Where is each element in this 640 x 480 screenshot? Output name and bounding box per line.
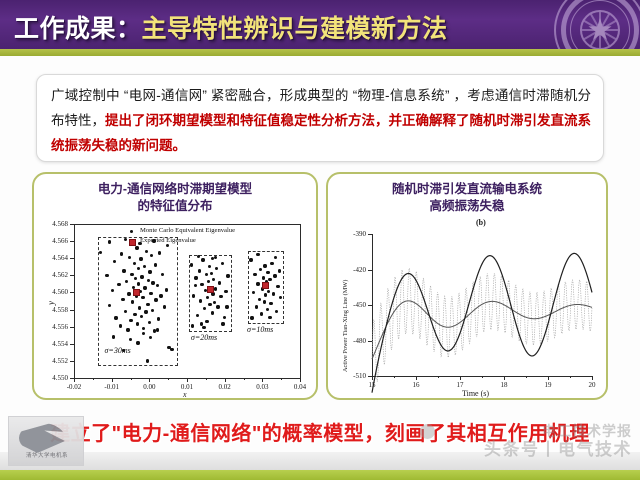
scatter-point bbox=[135, 246, 138, 249]
watermark-badge-icon bbox=[420, 424, 435, 439]
scatter-point bbox=[114, 316, 117, 319]
panel-left-title-line2: 的特征值分布 bbox=[34, 198, 316, 215]
scatter-point bbox=[137, 282, 140, 285]
scatter-point bbox=[154, 298, 157, 301]
slide-root: 工作成果：主导特性辨识与建模新方法 广域控制中 “电网-通信网” 紧密融合，形成… bbox=[0, 0, 640, 480]
panel-right-title: 随机时滞引发直流输电系统 高频振荡失稳 bbox=[328, 174, 606, 215]
scatter-point bbox=[146, 359, 149, 362]
summary-line-1: 广域控制中 “电网-通信网” 紧密融合，形成典型的 “物理-信息系统” ，考 bbox=[51, 88, 481, 103]
x-tick bbox=[300, 378, 301, 382]
dc-power-oscillation-chart: -510-480-450-420-390151617181920Time (s)… bbox=[334, 218, 600, 400]
scatter-point bbox=[139, 257, 142, 260]
scatter-point bbox=[105, 274, 108, 277]
y-tick-label: 4.556 bbox=[40, 323, 68, 331]
scatter-point bbox=[256, 282, 259, 285]
scatter-point bbox=[99, 251, 102, 254]
scatter-point bbox=[112, 335, 115, 338]
scatter-point bbox=[218, 281, 221, 284]
scatter-point bbox=[262, 276, 265, 279]
y-tick-label: 4.564 bbox=[40, 254, 68, 262]
scatter-point bbox=[258, 298, 261, 301]
scatter-point bbox=[136, 341, 139, 344]
scatter-point bbox=[225, 305, 228, 308]
y-tick bbox=[70, 275, 74, 276]
y-axis-title: y bbox=[46, 301, 56, 305]
x-minor-tick bbox=[206, 378, 207, 380]
scatter-point bbox=[154, 263, 157, 266]
expected-eigenvalue-marker bbox=[133, 289, 140, 296]
x-tick bbox=[187, 378, 188, 382]
scatter-point bbox=[120, 252, 123, 255]
scatter-point bbox=[121, 298, 124, 301]
tsinghua-seal-icon bbox=[554, 0, 640, 56]
scatter-point bbox=[226, 274, 229, 277]
scatter-point bbox=[255, 305, 258, 308]
department-logo: 清华大学电机系 bbox=[8, 416, 84, 466]
scatter-point bbox=[143, 286, 146, 289]
slide-header: 工作成果：主导特性辨识与建模新方法 bbox=[0, 0, 640, 56]
scatter-point bbox=[190, 263, 193, 266]
x-tick bbox=[225, 378, 226, 382]
scatter-point bbox=[191, 324, 194, 327]
plot-frame-right bbox=[300, 224, 301, 378]
scatter-point bbox=[250, 316, 253, 319]
logo-swoosh-icon bbox=[19, 423, 65, 453]
panel-right-title-line1: 随机时滞引发直流输电系统 bbox=[328, 181, 606, 198]
scatter-point bbox=[200, 322, 203, 325]
scatter-point bbox=[273, 274, 276, 277]
scatter-point bbox=[249, 258, 252, 261]
cluster-sigma-label: σ=10ms bbox=[247, 325, 273, 334]
scatter-point bbox=[198, 269, 201, 272]
scatter-point bbox=[202, 326, 205, 329]
scatter-point bbox=[119, 324, 122, 327]
x-minor-tick bbox=[131, 378, 132, 380]
scatter-point bbox=[146, 303, 149, 306]
x-minor-tick bbox=[93, 378, 94, 380]
page-title-main: 主导特性辨识与建模新方法 bbox=[142, 15, 448, 43]
x-axis-title: x bbox=[183, 390, 187, 399]
scatter-point bbox=[126, 328, 129, 331]
scatter-point bbox=[221, 322, 224, 325]
scatter-point bbox=[221, 262, 224, 265]
y-tick bbox=[70, 327, 74, 328]
scatter-point bbox=[205, 320, 208, 323]
scatter-point bbox=[108, 304, 111, 307]
watermark-line-2: 头条号丨电气技术 bbox=[402, 440, 632, 460]
scatter-point bbox=[127, 292, 130, 295]
y-tick bbox=[70, 241, 74, 242]
high-frequency-ripple-curve bbox=[372, 268, 592, 381]
y-axis-line bbox=[74, 224, 75, 378]
y-tick-label: 4.566 bbox=[40, 237, 68, 245]
panel-left-title: 电力-通信网络时滞期望模型 的特征值分布 bbox=[34, 174, 316, 215]
x-tick-label: 0.04 bbox=[288, 383, 312, 391]
scatter-point bbox=[117, 283, 120, 286]
footer-accent-band bbox=[0, 470, 640, 480]
scatter-point bbox=[269, 302, 272, 305]
x-tick-label: 0.01 bbox=[175, 383, 199, 391]
x-minor-tick bbox=[244, 378, 245, 380]
scatter-point bbox=[208, 303, 211, 306]
scatter-point bbox=[201, 258, 204, 261]
y-tick-label: 4.554 bbox=[40, 340, 68, 348]
scatter-point bbox=[138, 306, 141, 309]
scatter-point bbox=[276, 285, 279, 288]
x-minor-tick bbox=[168, 378, 169, 380]
scatter-point bbox=[149, 292, 152, 295]
y-tick bbox=[70, 310, 74, 311]
x-tick bbox=[74, 378, 75, 382]
y-tick-label: 4.552 bbox=[40, 357, 68, 365]
scatter-point bbox=[214, 256, 217, 259]
page-title-prefix: 工作成果： bbox=[14, 15, 142, 43]
scatter-point bbox=[159, 294, 162, 297]
scatter-point bbox=[148, 321, 151, 324]
expected-eigenvalue-marker bbox=[207, 286, 214, 293]
x-tick-label: 0.02 bbox=[213, 383, 237, 391]
expected-eigenvalue-marker bbox=[262, 282, 269, 289]
scatter-point bbox=[211, 311, 214, 314]
legend-label-monte-carlo: Monte Carlo Equivalent Eigenvalue bbox=[140, 227, 235, 234]
x-tick bbox=[149, 378, 150, 382]
scatter-point bbox=[124, 238, 127, 241]
scatter-point bbox=[263, 264, 266, 267]
x-tick bbox=[112, 378, 113, 382]
x-tick-label: -0.02 bbox=[62, 383, 86, 391]
scatter-point bbox=[157, 317, 160, 320]
scatter-point bbox=[205, 273, 208, 276]
plot-frame-top bbox=[74, 224, 300, 225]
panel-left-title-line1: 电力-通信网络时滞期望模型 bbox=[34, 181, 316, 198]
scatter-point bbox=[144, 310, 147, 313]
cluster-sigma-label: σ=20ms bbox=[191, 333, 217, 342]
oscillation-curves bbox=[334, 218, 600, 400]
panel-right-title-line2: 高频振荡失稳 bbox=[328, 198, 606, 215]
logo-caption: 清华大学电机系 bbox=[15, 451, 79, 459]
y-tick-label: 4.550 bbox=[40, 374, 68, 382]
scatter-point bbox=[223, 316, 226, 319]
summary-line-2-highlight: 提出了闭环期望模型和特征值稳定性分析方法， bbox=[105, 113, 389, 128]
y-tick-label: 4.558 bbox=[40, 306, 68, 314]
x-minor-tick bbox=[281, 378, 282, 380]
scatter-point bbox=[270, 262, 273, 265]
scatter-point bbox=[253, 273, 256, 276]
scatter-point bbox=[158, 251, 161, 254]
x-tick-label: -0.01 bbox=[100, 383, 124, 391]
scatter-point bbox=[151, 281, 154, 284]
scatter-point bbox=[214, 287, 217, 290]
scatter-point bbox=[260, 312, 263, 315]
x-tick-label: 0.03 bbox=[250, 383, 274, 391]
legend-label-expected: Expected Eigenvalue bbox=[140, 237, 196, 244]
scatter-point bbox=[130, 273, 133, 276]
eigenvalue-scatter-chart: 4.5504.5524.5544.5564.5584.5604.5624.564… bbox=[40, 218, 310, 400]
y-tick-label: 4.562 bbox=[40, 271, 68, 279]
scatter-point bbox=[194, 276, 197, 279]
large-oscillation-curve bbox=[372, 253, 592, 392]
scatter-point bbox=[129, 319, 132, 322]
header-accent-stripe bbox=[0, 49, 640, 56]
watermark-line-1: 电工技术学报 bbox=[402, 422, 632, 440]
scatter-point bbox=[163, 305, 166, 308]
scatter-point bbox=[216, 305, 219, 308]
scatter-point bbox=[122, 269, 125, 272]
y-tick bbox=[70, 224, 74, 225]
scatter-point bbox=[140, 275, 143, 278]
cluster-sigma-label: σ=30ms bbox=[104, 346, 130, 355]
scatter-point bbox=[141, 296, 144, 299]
summary-paragraph: 广域控制中 “电网-通信网” 紧密融合，形成典型的 “物理-信息系统” ，考虑通… bbox=[51, 83, 591, 158]
scatter-point bbox=[165, 288, 168, 291]
scatter-point bbox=[263, 300, 266, 303]
page-title: 工作成果：主导特性辨识与建模新方法 bbox=[14, 9, 448, 45]
y-tick-label: 4.568 bbox=[40, 220, 68, 228]
y-tick bbox=[70, 292, 74, 293]
legend-marker-expected bbox=[129, 239, 136, 246]
x-tick bbox=[262, 378, 263, 382]
scatter-point bbox=[268, 316, 271, 319]
x-tick-label: 0.00 bbox=[137, 383, 161, 391]
source-watermark: 电工技术学报 头条号丨电气技术 bbox=[402, 422, 632, 468]
y-tick-label: 4.560 bbox=[40, 288, 68, 296]
panel-dc-oscillation: 随机时滞引发直流输电系统 高频振荡失稳 -510-480-450-420-390… bbox=[326, 172, 608, 400]
scatter-point bbox=[133, 262, 136, 265]
y-tick bbox=[70, 258, 74, 259]
scatter-point bbox=[148, 270, 151, 273]
scatter-point bbox=[156, 328, 159, 331]
panel-eigenvalue-distribution: 电力-通信网络时滞期望模型 的特征值分布 4.5504.5524.5544.55… bbox=[32, 172, 318, 400]
summary-textbox: 广域控制中 “电网-通信网” 紧密融合，形成典型的 “物理-信息系统” ，考虑通… bbox=[36, 74, 604, 162]
scatter-point bbox=[151, 309, 154, 312]
legend-marker-monte-carlo bbox=[130, 230, 133, 233]
y-tick bbox=[70, 344, 74, 345]
y-tick bbox=[70, 361, 74, 362]
scatter-point bbox=[199, 299, 202, 302]
scatter-point bbox=[252, 291, 255, 294]
